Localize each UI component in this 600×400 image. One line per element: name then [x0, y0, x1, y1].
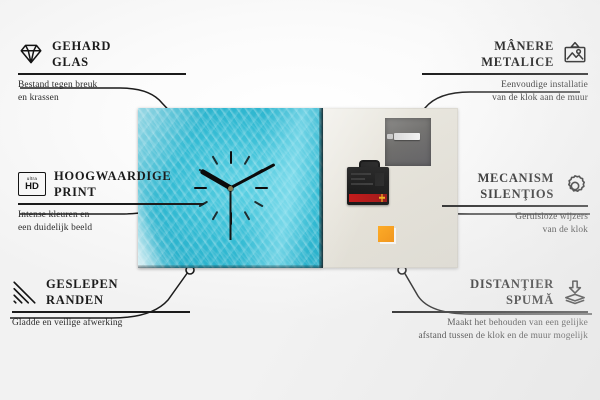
gear-icon — [562, 173, 588, 199]
callout-title-line2: METALICE — [481, 54, 554, 70]
callout-subtitle-line1: Maakt het behouden van een gelijke — [390, 317, 588, 330]
callout-title-line1: MÂNERE — [481, 38, 554, 54]
callout-title-line2: PRINT — [54, 184, 171, 200]
clock-center-pin — [228, 186, 233, 191]
callout-subtitle-line2: een duidelijk beeld — [18, 222, 208, 235]
clock-second-hand — [230, 188, 232, 240]
diamond-icon — [18, 41, 44, 67]
callout-title-line1: HOOGWAARDIGE — [54, 168, 171, 184]
callout-subtitle-line1: Eenvoudige installatie — [420, 79, 588, 92]
infographic-canvas: GEHARD GLAS Bestand tegen breuk en krass… — [0, 0, 600, 400]
callout-rule — [18, 73, 186, 75]
ultra-hd-icon: ultra HD — [18, 172, 46, 196]
clock-mechanism-box — [347, 165, 389, 205]
callout-gehard-glas: GEHARD GLAS Bestand tegen breuk en krass… — [18, 38, 188, 105]
callout-rule — [422, 73, 588, 75]
callout-distantier-spuma: DISTANŢIER SPUMĂ Maakt het behouden van … — [390, 276, 588, 343]
arrow-onto-layers-icon — [562, 279, 588, 305]
callout-geslepen-randen: GESLEPEN RANDEN Gladde en veilige afwerk… — [12, 276, 192, 330]
hanger-slot — [394, 133, 420, 140]
callout-rule — [18, 203, 204, 205]
callout-title-line1: GEHARD — [52, 38, 111, 54]
clock-back-panel — [323, 108, 458, 268]
callout-title-line1: MECANISM — [478, 170, 554, 186]
callout-subtitle-line2: van de klok — [440, 224, 588, 237]
callout-subtitle-line1: Geruisloze wijzers — [440, 211, 588, 224]
callout-title-line2: SILENŢIOS — [478, 186, 554, 202]
callout-hoogwaardige-print: ultra HD HOOGWAARDIGE PRINT Intense kleu… — [18, 168, 208, 235]
callout-manere-metalice: MÂNERE METALICE Eenvoudige installatie v… — [420, 38, 588, 105]
callout-subtitle-line2: afstand tussen de klok en de muur mogeli… — [390, 330, 588, 343]
callout-title-line2: RANDEN — [46, 292, 118, 308]
metal-hanger-plate — [385, 118, 431, 166]
hanging-picture-frame-icon — [562, 41, 588, 67]
callout-title-line1: DISTANŢIER — [470, 276, 554, 292]
callout-title-line2: GLAS — [52, 54, 111, 70]
mechanism-label — [349, 194, 387, 202]
callout-subtitle-line1: Intense kleuren en — [18, 209, 208, 222]
glass-edge-bottom — [138, 265, 323, 268]
callout-subtitle-line1: Bestand tegen breuk — [18, 79, 188, 92]
callout-mecanism-silentios: MECANISM SILENŢIOS Geruisloze wijzers va… — [440, 170, 588, 237]
callout-rule — [392, 311, 588, 313]
callout-title-line1: GESLEPEN — [46, 276, 118, 292]
ultra-hd-icon-main-text: HD — [25, 182, 39, 192]
callout-rule — [12, 311, 190, 313]
callout-title-line2: SPUMĂ — [470, 292, 554, 308]
callout-subtitle-line2: van de klok aan de muur — [420, 92, 588, 105]
callout-rule — [442, 205, 588, 207]
foam-spacer — [378, 226, 394, 242]
callout-subtitle-line1: Gladde en veilige afwerking — [12, 317, 192, 330]
mechanism-body — [347, 167, 389, 205]
callout-subtitle-line2: en krassen — [18, 92, 188, 105]
diagonal-lines-icon — [12, 279, 38, 305]
